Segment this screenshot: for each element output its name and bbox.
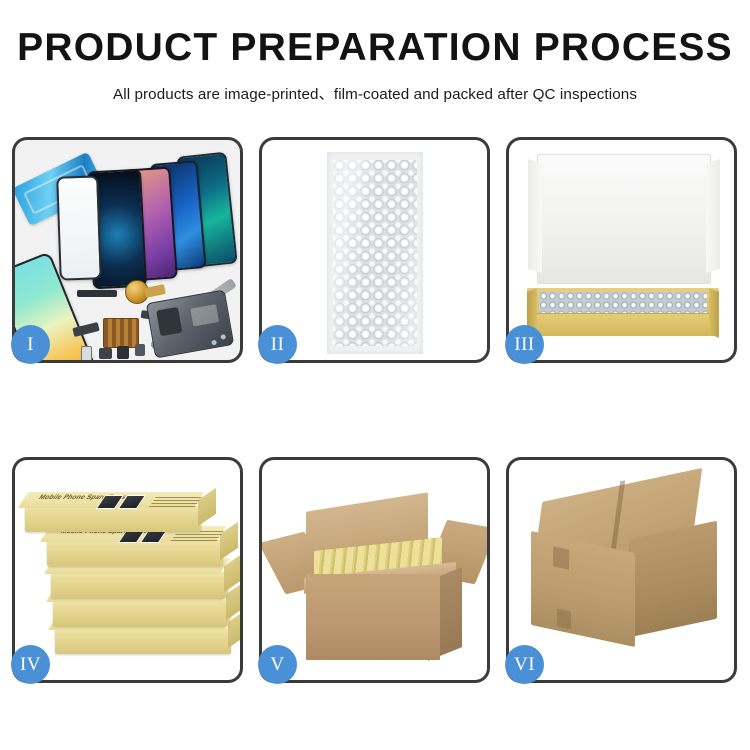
step-badge-2: II [258,325,297,364]
retail-box-stack: Mobile Phone Spare Parts Mobile Phone Sp… [21,478,239,670]
phone-back-housing [146,289,235,358]
step-image-2 [262,140,487,360]
open-shipping-carton [286,498,468,660]
page-subtitle: All products are image-printed、film-coat… [0,82,750,104]
step-image-5 [262,460,487,680]
part-small-d [135,344,145,356]
mailer-lid-flap-right [706,159,720,273]
page-header: PRODUCT PREPARATION PROCESS All products… [0,0,750,104]
step-panel-3[interactable]: III [506,137,737,363]
retail-box-5 [55,628,231,654]
carton-front-panel [306,574,440,660]
step-panel-1[interactable]: I [12,137,243,363]
retail-box-label-speclines [149,495,203,507]
step-badge-6: VI [505,645,544,684]
mailer-box-base [527,288,719,336]
sealed-carton-right-panel [629,521,717,638]
step-panel-5[interactable]: V [259,457,490,683]
sealed-shipping-carton [531,486,717,648]
step-badge-3: III [505,325,544,364]
phone-screen-protector [56,175,102,280]
retail-box-3 [51,572,227,598]
retail-box-4 [53,600,229,626]
part-screw-1 [220,334,226,340]
part-small-c [117,346,129,359]
step-panel-2[interactable]: II [259,137,490,363]
process-steps-grid: I II III [12,137,738,683]
mailer-box-lid [537,154,711,284]
part-strip [77,290,117,297]
step-panel-4[interactable]: Mobile Phone Spare Parts Mobile Phone Sp… [12,457,243,683]
step-image-6 [509,460,734,680]
retail-box-label-1: Mobile Phone Spare Parts [26,493,209,509]
page-title: PRODUCT PREPARATION PROCESS [0,28,750,69]
step-badge-5: V [258,645,297,684]
step-image-4: Mobile Phone Spare Parts Mobile Phone Sp… [15,460,240,680]
bubble-wrap-icon [333,160,417,346]
step-badge-1: I [11,325,50,364]
step-badge-4: IV [11,645,50,684]
part-chip-grid [103,318,139,348]
part-small-a [81,346,92,360]
mailer-lid-flap-left [528,159,542,273]
part-screw-2 [211,340,217,346]
mailer-box-front-panel [527,313,719,336]
sealed-carton-tab-lower [557,609,571,630]
step-image-3 [509,140,734,360]
retail-box-2: Mobile Phone Spare Parts [47,540,223,566]
retail-box-1: Mobile Phone Spare Parts [25,506,201,532]
step-panel-6[interactable]: VI [506,457,737,683]
phone-parts-illustration [15,140,240,360]
step-image-1 [15,140,240,360]
sealed-carton-tab-upper [553,546,569,569]
part-small-b [99,348,112,359]
mailer-box-edge-right [709,288,719,338]
